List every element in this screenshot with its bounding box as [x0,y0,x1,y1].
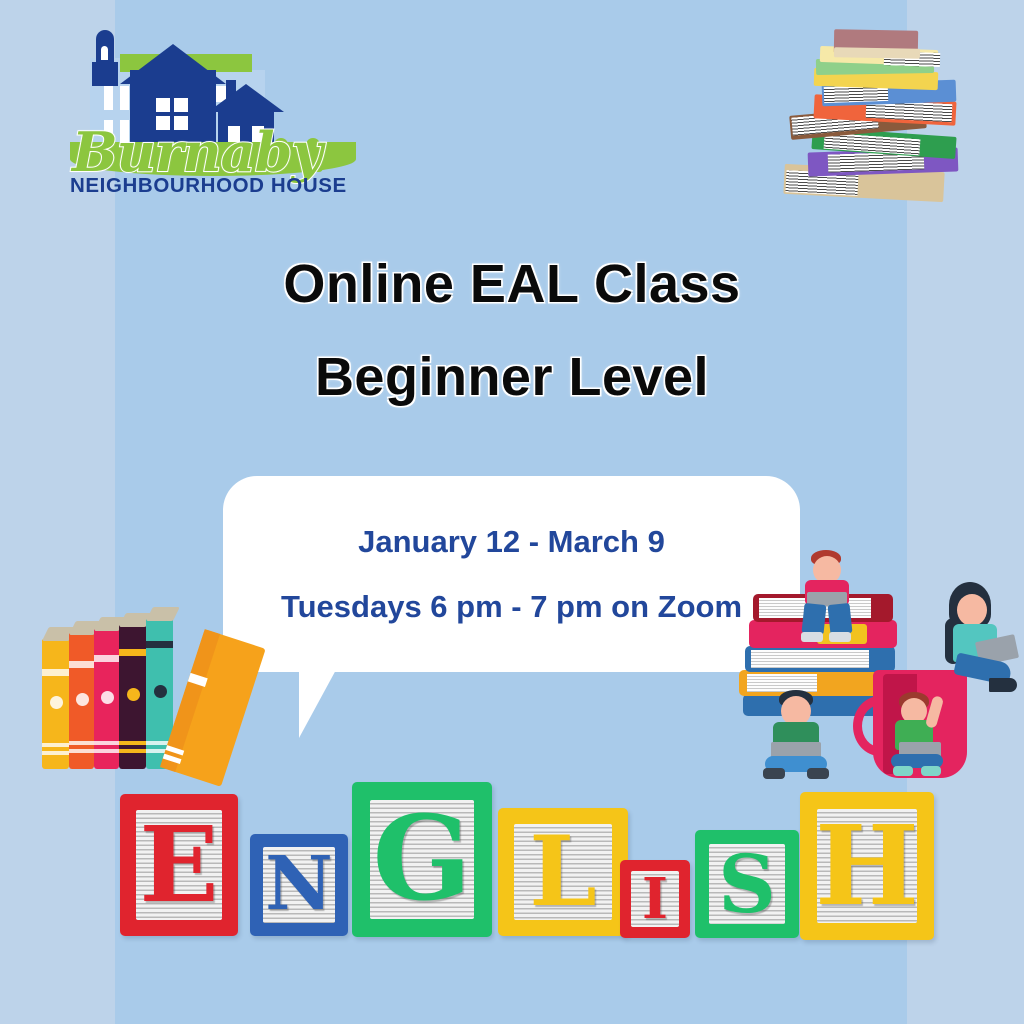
book-band [146,641,173,648]
block-letter: H [817,819,917,914]
book-dot [154,685,167,698]
logo-steeple-base [92,62,118,86]
shoe [921,766,941,776]
block-letter: N [265,853,333,917]
block-panel: G [370,800,474,919]
upright-books-illustration [42,604,277,769]
logo-steeple-window [101,46,108,60]
block-letter: E [139,820,218,909]
logo-window [174,98,188,112]
page-title: Online EAL Class Beginner Level [0,238,1024,424]
book-band [42,669,69,676]
book-pages [751,650,869,668]
book-band [42,743,69,747]
block-letter: I [642,875,668,923]
book-pages [834,47,920,58]
title-line-1: Online EAL Class [283,254,740,314]
book-dot [127,688,140,701]
leaning-book [160,629,266,787]
logo-script-wordmark: Burnaby [72,120,312,180]
letter-block: I [620,860,690,938]
students-with-laptops-illustration [725,552,1005,782]
shoe [807,768,829,779]
book-dot [76,693,89,706]
book-band [94,655,119,662]
schedule-time-platform: Tuesdays 6 pm - 7 pm on Zoom [281,591,742,622]
student-in-mug [891,692,951,778]
book-band [69,661,94,668]
legs [827,603,852,635]
book-band [69,749,94,753]
letter-block: N [250,834,348,936]
shoe [763,768,785,779]
block-panel: H [817,809,917,923]
schedule-speech-bubble: January 12 - March 9 Tuesdays 6 pm - 7 p… [223,476,800,672]
poster-canvas: Burnaby NEIGHBOURHOOD HOUSE Onli [0,0,1024,1024]
letter-block: E [120,794,238,936]
book-stack-illustration [780,22,985,212]
book-spine [119,625,146,769]
logo-window [156,98,170,112]
student-on-books [797,550,857,602]
book-band [69,741,94,745]
shoe [801,632,823,642]
book-dot [50,696,63,709]
english-alphabet-blocks: E N G L I S H [112,782,922,942]
shoe [829,632,851,642]
logo-subtitle: NEIGHBOURHOOD HOUSE [70,174,358,198]
book-spine [69,633,94,769]
book-band [42,751,69,755]
face [957,594,987,626]
book-top-edge [146,607,180,621]
shoe [989,678,1017,692]
block-letter: S [718,850,776,919]
book-band [119,749,146,753]
block-letter: G [372,810,471,910]
logo-window [120,86,129,110]
book-band [94,749,119,753]
letter-block: S [695,830,799,938]
student-sitting [765,690,839,780]
burnaby-neighbourhood-house-logo: Burnaby NEIGHBOURHOOD HOUSE [68,22,358,202]
block-panel: I [631,871,679,927]
schedule-text-group: January 12 - March 9 Tuesdays 6 pm - 7 p… [223,476,800,672]
book-dot [101,691,114,704]
speech-bubble-tail [299,668,337,738]
title-line-2: Beginner Level [0,331,1024,424]
logo-window [104,86,113,110]
letter-block: G [352,782,492,937]
letter-block: L [498,808,628,936]
block-panel: N [263,847,335,923]
book-band [119,741,146,745]
book-spine [42,639,69,769]
letter-block: H [800,792,934,940]
book-band [119,649,146,656]
block-panel: S [709,844,785,924]
student-woman [941,582,1017,702]
book-spine [94,629,119,769]
block-letter: L [529,831,597,914]
legs [801,603,826,635]
book-band [94,741,119,745]
block-panel: L [514,824,612,920]
shoe [893,766,913,776]
schedule-date-range: January 12 - March 9 [358,526,665,557]
block-panel: E [136,810,222,920]
